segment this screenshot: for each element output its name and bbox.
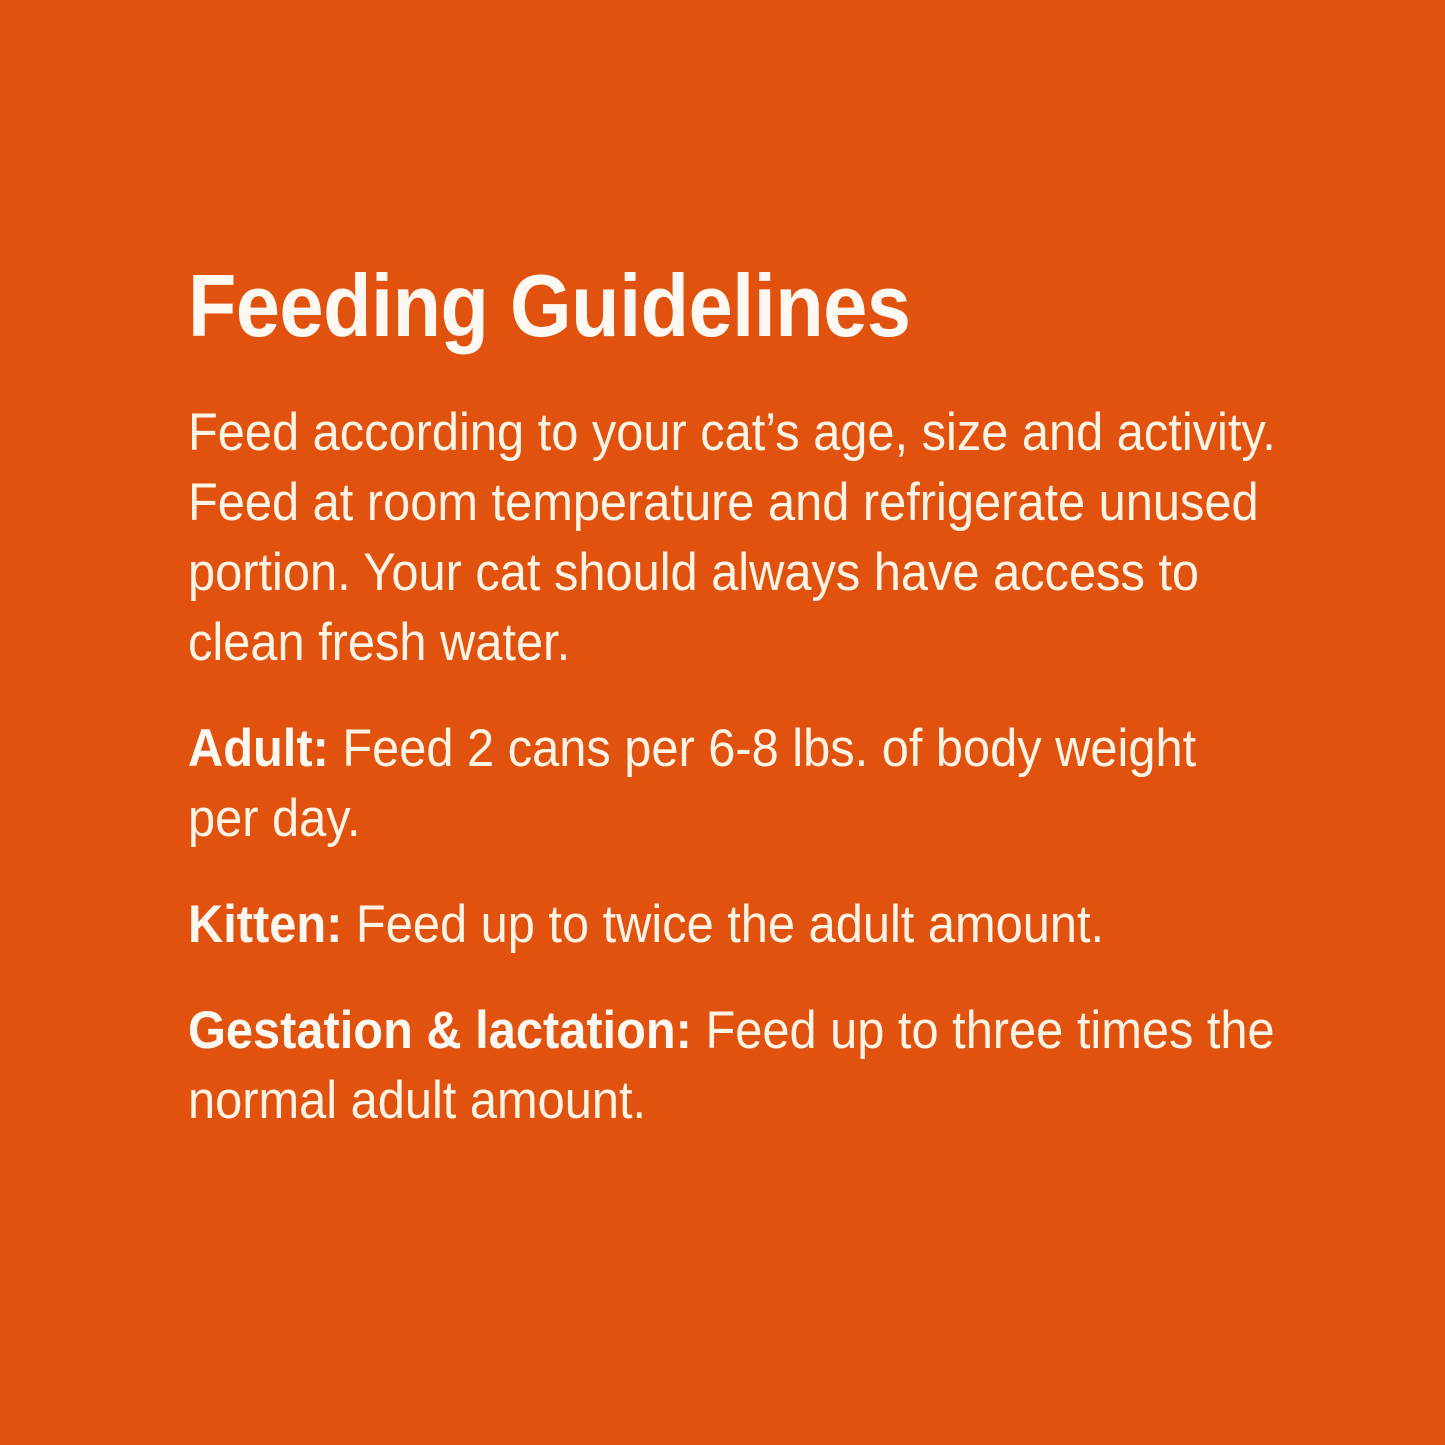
adult-text: Feed 2 cans per 6-8 lbs. of body weight … — [188, 719, 1196, 848]
adult-feeding-block: Adult: Feed 2 cans per 6-8 lbs. of body … — [188, 714, 1278, 854]
kitten-text: Feed up to twice the adult amount. — [342, 895, 1104, 954]
feeding-guidelines-panel: Feeding Guidelines Feed according to you… — [0, 0, 1445, 1445]
kitten-label: Kitten: — [188, 895, 342, 954]
intro-paragraph: Feed according to your cat’s age, size a… — [188, 398, 1278, 678]
page-title: Feeding Guidelines — [188, 262, 1169, 350]
kitten-feeding-block: Kitten: Feed up to twice the adult amoun… — [188, 890, 1278, 960]
gestation-lactation-label: Gestation & lactation: — [188, 1001, 692, 1060]
gestation-lactation-feeding-block: Gestation & lactation: Feed up to three … — [188, 996, 1278, 1136]
content-container: Feeding Guidelines Feed according to you… — [188, 262, 1278, 1136]
intro-text: Feed according to your cat’s age, size a… — [188, 403, 1276, 672]
adult-label: Adult: — [188, 719, 329, 778]
